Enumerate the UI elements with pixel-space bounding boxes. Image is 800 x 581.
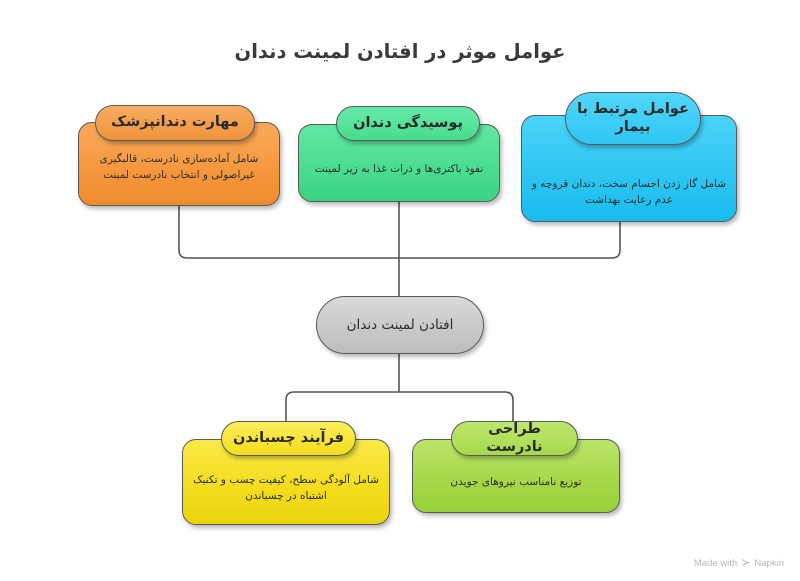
node-bad-design-body: توزیع نامناسب نیروهای جویدن [421, 474, 611, 490]
node-bad-design-header[interactable]: طراحی نادرست [451, 421, 578, 456]
node-tooth-decay-body: نفوذ باکتری‌ها و ذرات غذا به زیر لمینت [307, 161, 491, 177]
connector-lines [0, 0, 800, 581]
napkin-logo-icon: ≻ [741, 558, 750, 569]
watermark-brand: Napkin [754, 558, 784, 569]
node-tooth-decay-header[interactable]: پوسیدگی دندان [336, 106, 480, 141]
node-patient-factors-body: شامل گاز زدن اجسام سخت، دندان قروچه و عد… [530, 176, 728, 209]
node-patient-factors-header[interactable]: عوامل مرتبط با بیمار [565, 92, 701, 145]
node-dentist-skill-body: شامل آماده‌سازی نادرست، قالبگیری غیراصول… [87, 151, 271, 184]
diagram-canvas: عوامل موثر در افتادن لمینت دندان شامل آم… [0, 0, 800, 581]
node-bonding-process-header[interactable]: فرآیند چسباندن [221, 421, 356, 456]
napkin-watermark: Made with ≻ Napkin [694, 558, 784, 569]
node-dentist-skill-header[interactable]: مهارت دندانپزشک [95, 105, 255, 141]
page-title: عوامل موثر در افتادن لمینت دندان [0, 40, 800, 63]
node-outcome-veneer-falling[interactable]: افتادن لمینت دندان [316, 296, 484, 354]
watermark-prefix: Made with [694, 558, 737, 569]
node-bonding-process-body: شامل آلودگی سطح، کیفیت چسب و تکنیک اشتبا… [191, 472, 381, 505]
